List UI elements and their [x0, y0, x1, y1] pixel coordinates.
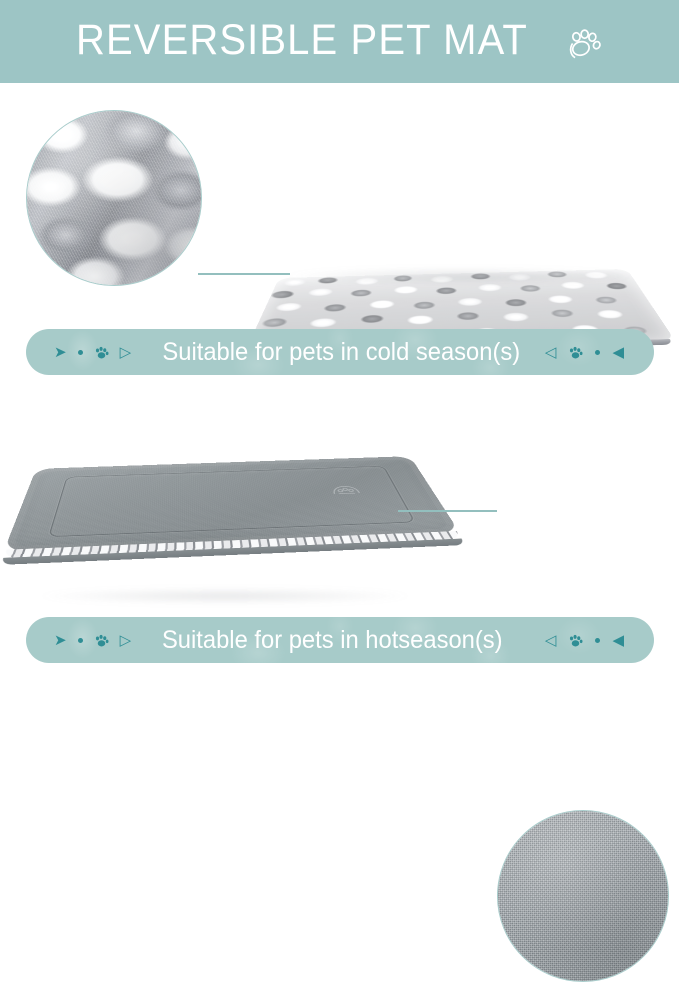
callout-leader-line-bottom	[398, 510, 497, 512]
grey-mat-body	[4, 456, 460, 551]
hot-season-section	[0, 386, 679, 611]
hot-season-banner-text: Suitable for pets in hotseason(s)	[162, 628, 503, 653]
dot-icon	[78, 638, 83, 643]
grey-fabric-closeup	[497, 810, 669, 982]
paw-print-icon	[567, 25, 603, 61]
cobblestone-mat-shadow	[288, 268, 632, 284]
banner-decoration-left: ➤ ▷	[54, 633, 131, 648]
plush-texture-closeup	[26, 110, 202, 286]
grey-mat-shadow	[40, 588, 410, 604]
banner-decoration-right: ◁ ◀	[545, 345, 624, 360]
grey-side-pet-mat	[22, 416, 442, 566]
arrow-filled-left-icon: ◀	[612, 633, 624, 648]
arrow-outline-left-icon: ◁	[545, 633, 557, 648]
cold-season-banner: ➤ ▷ Suitable for pets in cold season(s) …	[26, 329, 654, 375]
dot-icon	[78, 350, 83, 355]
arrow-outline-right-icon: ▷	[120, 633, 132, 648]
arrow-filled-left-icon: ◀	[612, 345, 624, 360]
arrow-filled-right-icon: ➤	[54, 633, 67, 648]
header-content: REVERSIBLE PET MAT	[76, 19, 604, 62]
page-title: REVERSIBLE PET MAT	[76, 19, 528, 62]
brand-logo-emboss-icon	[325, 483, 367, 497]
hot-season-banner: ➤ ▷ Suitable for pets in hotseason(s) ◁	[26, 617, 654, 663]
paw-print-icon	[568, 633, 583, 648]
grey-fabric-shading-overlay	[498, 811, 668, 981]
arrow-outline-left-icon: ◁	[545, 345, 557, 360]
page-header-banner: REVERSIBLE PET MAT	[0, 0, 679, 83]
paw-print-icon	[94, 633, 109, 648]
banner-decoration-right: ◁ ◀	[545, 633, 624, 648]
banner-decoration-left: ➤ ▷	[54, 345, 131, 360]
dot-icon	[595, 350, 600, 355]
arrow-filled-right-icon: ➤	[54, 345, 67, 360]
cold-season-banner-text: Suitable for pets in cold season(s)	[163, 340, 521, 365]
paw-print-icon	[568, 345, 583, 360]
arrow-outline-right-icon: ▷	[120, 345, 132, 360]
paw-print-icon	[94, 345, 109, 360]
plush-shading-overlay	[27, 111, 201, 285]
dot-icon	[595, 638, 600, 643]
